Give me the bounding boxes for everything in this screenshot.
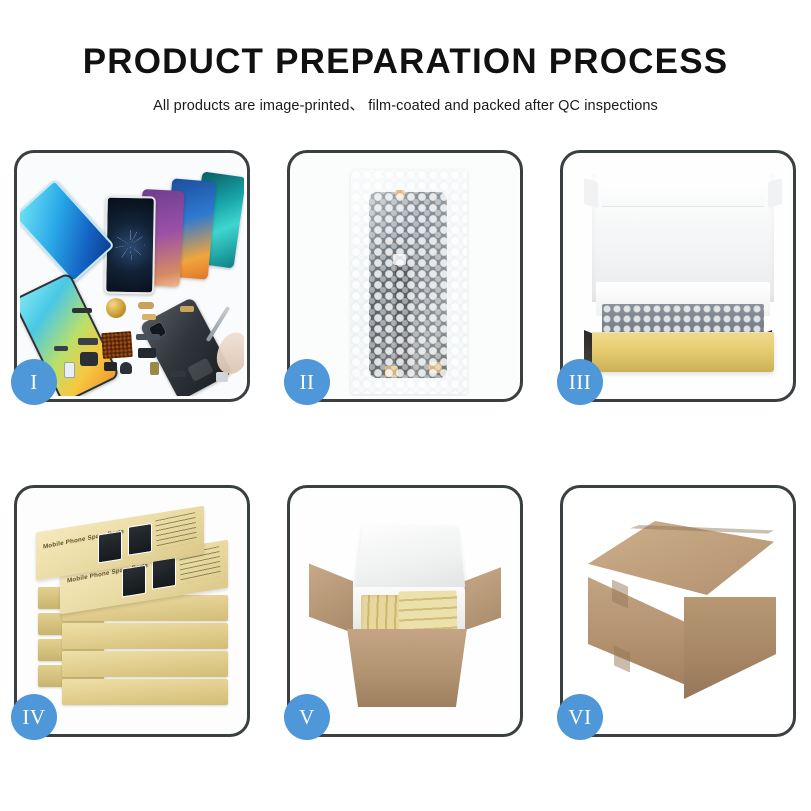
process-step-6[interactable]: VI <box>560 485 796 737</box>
gold-box-front <box>592 334 774 372</box>
step-badge-1: I <box>11 359 57 405</box>
plastic-sheen <box>351 170 467 394</box>
speaker-part-icon <box>106 298 126 318</box>
page-title: PRODUCT PREPARATION PROCESS <box>0 44 811 81</box>
foam-box-lid <box>354 525 466 590</box>
spare-part <box>216 372 228 382</box>
gold-box <box>62 679 228 705</box>
spare-part <box>72 308 92 313</box>
step-badge-2: II <box>284 359 330 405</box>
chip-board-part <box>101 331 133 359</box>
process-step-2[interactable]: II <box>287 150 523 402</box>
step-2-photo <box>293 156 517 396</box>
process-step-5[interactable]: V <box>287 485 523 737</box>
spare-part <box>180 306 194 312</box>
spare-part <box>78 338 98 345</box>
process-step-1[interactable]: I <box>14 150 250 402</box>
step-3-photo <box>566 156 790 396</box>
spare-part <box>170 371 186 377</box>
spare-part <box>120 362 132 374</box>
box-screen-image <box>128 523 152 556</box>
step-5-photo <box>293 491 517 731</box>
gold-box <box>62 651 228 677</box>
step-badge-3: III <box>557 359 603 405</box>
carton-body <box>339 629 475 707</box>
gold-box <box>62 623 228 649</box>
box-screen-image <box>122 565 146 598</box>
spare-part <box>54 346 68 351</box>
spare-part <box>104 362 117 371</box>
page-subtitle: All products are image-printed、 film-coa… <box>0 94 811 115</box>
infographic-page: PRODUCT PREPARATION PROCESS All products… <box>0 0 811 811</box>
box-screen-image <box>98 531 122 564</box>
spare-part <box>142 314 156 320</box>
step-badge-4: IV <box>11 694 57 740</box>
bubble-wrap-bag <box>351 170 467 394</box>
step-badge-6: VI <box>557 694 603 740</box>
box-spec-lines <box>155 512 197 550</box>
process-step-grid: I II <box>14 150 797 737</box>
process-step-4[interactable]: Mobile Phone Spare Parts Mobile Phone Sp… <box>14 485 250 737</box>
step-1-photo <box>20 156 244 396</box>
spare-part <box>138 348 156 358</box>
process-step-3[interactable]: III <box>560 150 796 402</box>
spare-part <box>80 352 98 366</box>
spare-part <box>64 362 75 378</box>
step-6-photo <box>566 491 790 731</box>
step-4-photo: Mobile Phone Spare Parts Mobile Phone Sp… <box>20 491 244 731</box>
box-screen-image <box>152 557 176 590</box>
header: PRODUCT PREPARATION PROCESS All products… <box>0 44 811 115</box>
spare-part <box>150 362 159 375</box>
spare-part <box>136 334 160 340</box>
step-badge-5: V <box>284 694 330 740</box>
spare-part <box>138 302 154 309</box>
